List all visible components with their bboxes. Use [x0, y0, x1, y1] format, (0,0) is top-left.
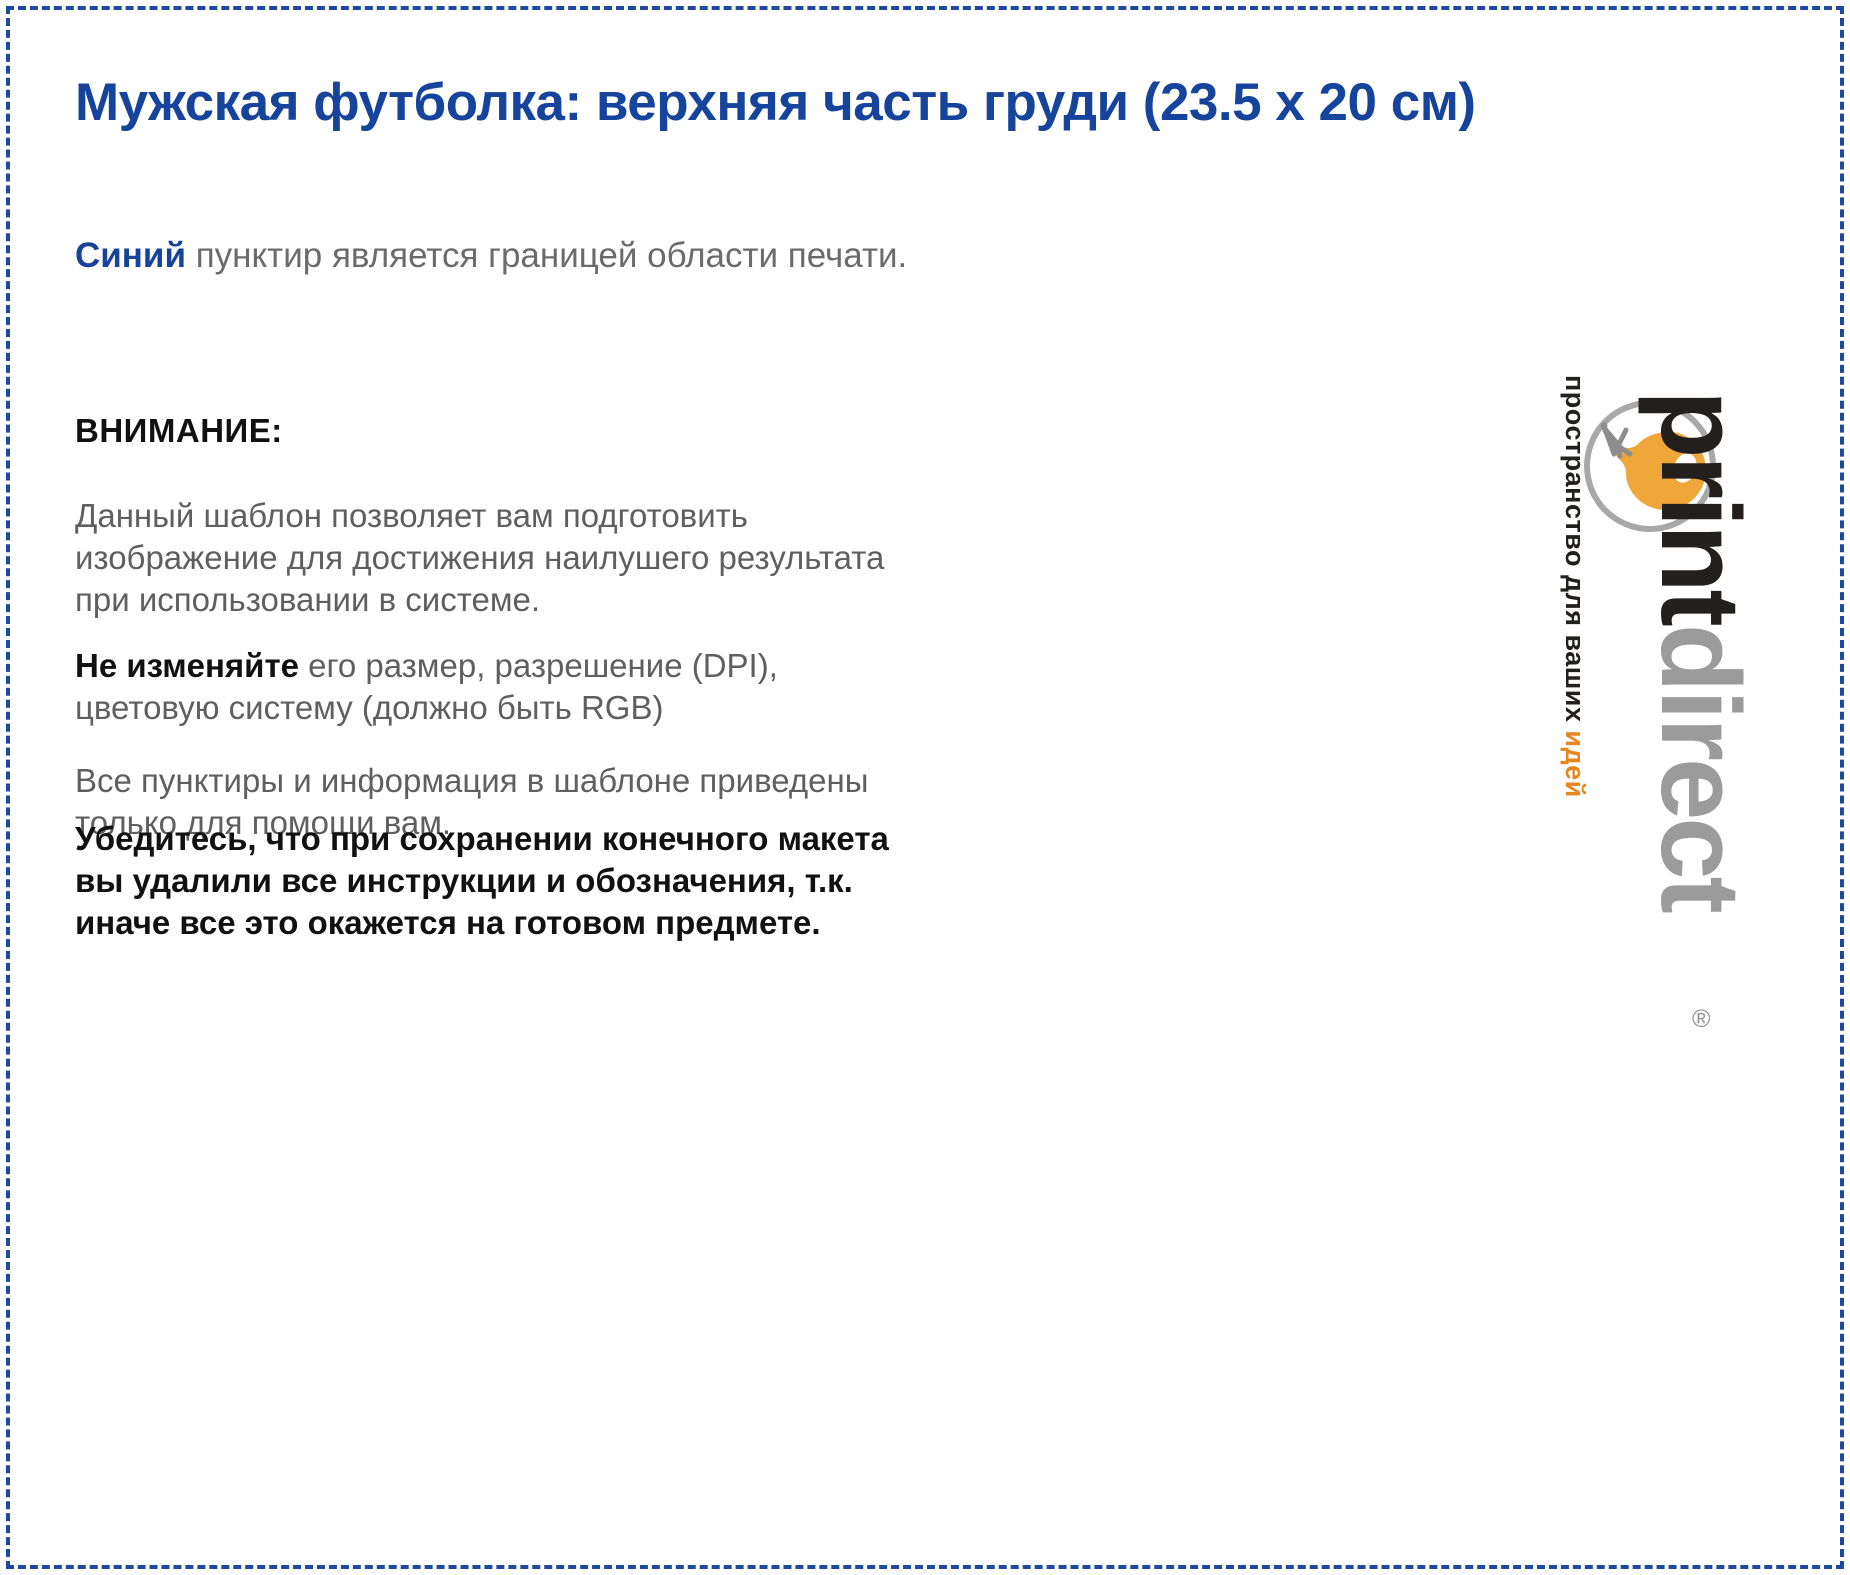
instruction-paragraph-template: Данный шаблон позволяет вам подготовить … — [75, 495, 915, 621]
tagline-accent: идей — [1560, 730, 1590, 797]
registered-trademark-symbol: ® — [1692, 1005, 1710, 1034]
printdirect-wordmark: printdirect — [1640, 390, 1760, 850]
page-title: Мужская футболка: верхняя часть груди (2… — [75, 72, 1476, 133]
dont-change-bold-text: Не изменяйте — [75, 647, 299, 684]
printdirect-tagline: пространство для ваших идей — [1555, 375, 1595, 805]
wordmark-direct: direct — [1638, 624, 1763, 911]
print-boundary-note-highlight: Синий — [75, 236, 186, 275]
print-boundary-note: Синий пунктир является границей области … — [75, 236, 907, 276]
template-canvas: Мужская футболка: верхняя часть груди (2… — [0, 0, 1850, 1575]
instruction-paragraph-warning: Убедитесь, что при сохранении конечного … — [75, 818, 915, 944]
wordmark-print: print — [1638, 390, 1763, 624]
tagline-main: пространство для ваших — [1560, 375, 1590, 730]
instruction-paragraph-dont-change: Не изменяйте его размер, разрешение (DPI… — [75, 645, 915, 729]
print-boundary-note-rest: пунктир является границей области печати… — [186, 236, 907, 275]
printdirect-logo: printdirect пространство для ваших идей … — [1300, 390, 1800, 1070]
attention-heading: ВНИМАНИЕ: — [75, 412, 283, 450]
